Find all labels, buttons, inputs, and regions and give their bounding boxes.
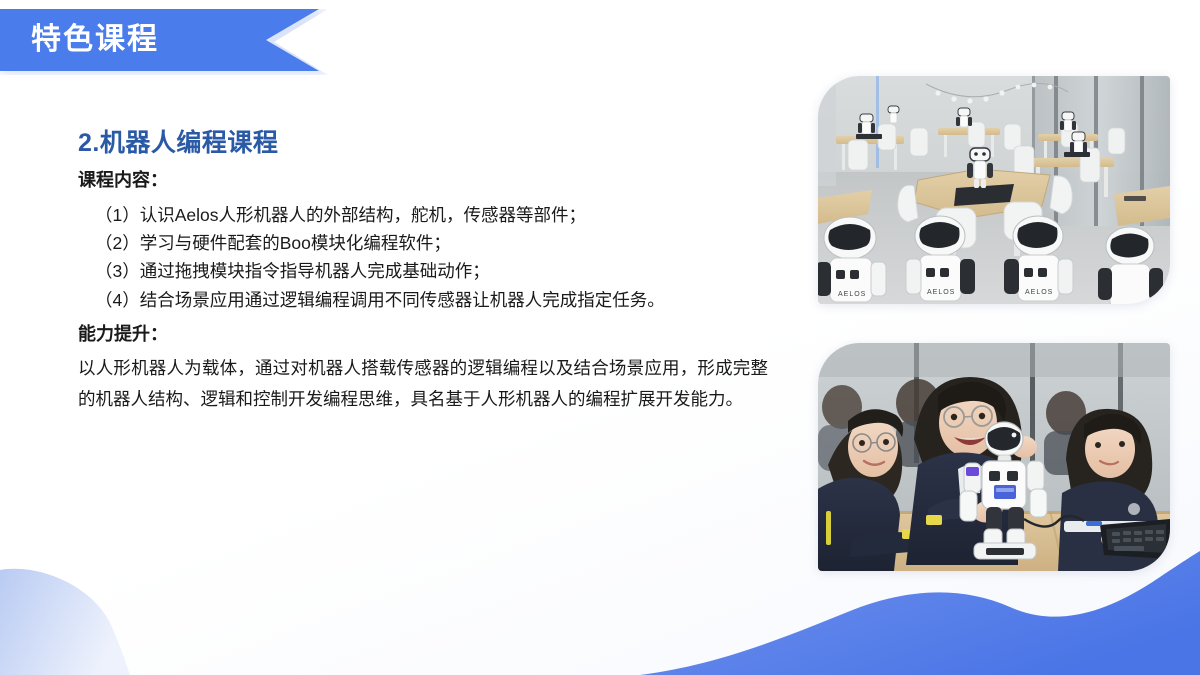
content-column: 2.机器人编程课程 课程内容： （1）认识Aelos人形机器人的外部结构，舵机，… <box>78 128 778 415</box>
banner-title: 特色课程 <box>31 25 159 55</box>
classroom-robots-photo: AELOS AELOS AELO <box>818 76 1170 304</box>
ability-improvement-paragraph: 以人形机器人为载体，通过对机器人搭载传感器的逻辑编程以及结合场景应用，形成完整的… <box>78 353 768 415</box>
course-content-label: 课程内容： <box>78 170 778 192</box>
students-robot-photo <box>818 343 1170 571</box>
svg-text:AELOS: AELOS <box>838 291 866 298</box>
list-item: （4）结合场景应用通过逻辑编程调用不同传感器让机器人完成指定任务。 <box>78 286 778 314</box>
list-item: （2）学习与硬件配套的Boo模块化编程软件； <box>78 229 778 257</box>
ability-improvement-label: 能力提升： <box>78 324 778 346</box>
svg-text:AELOS: AELOS <box>1025 289 1053 296</box>
course-content-list: （1）认识Aelos人形机器人的外部结构，舵机，传感器等部件； （2）学习与硬件… <box>78 201 778 314</box>
svg-text:AELOS: AELOS <box>927 289 955 296</box>
course-heading: 2.机器人编程课程 <box>78 128 778 158</box>
list-item: （3）通过拖拽模块指令指导机器人完成基础动作； <box>78 257 778 285</box>
list-item: （1）认识Aelos人形机器人的外部结构，舵机，传感器等部件； <box>78 201 778 229</box>
